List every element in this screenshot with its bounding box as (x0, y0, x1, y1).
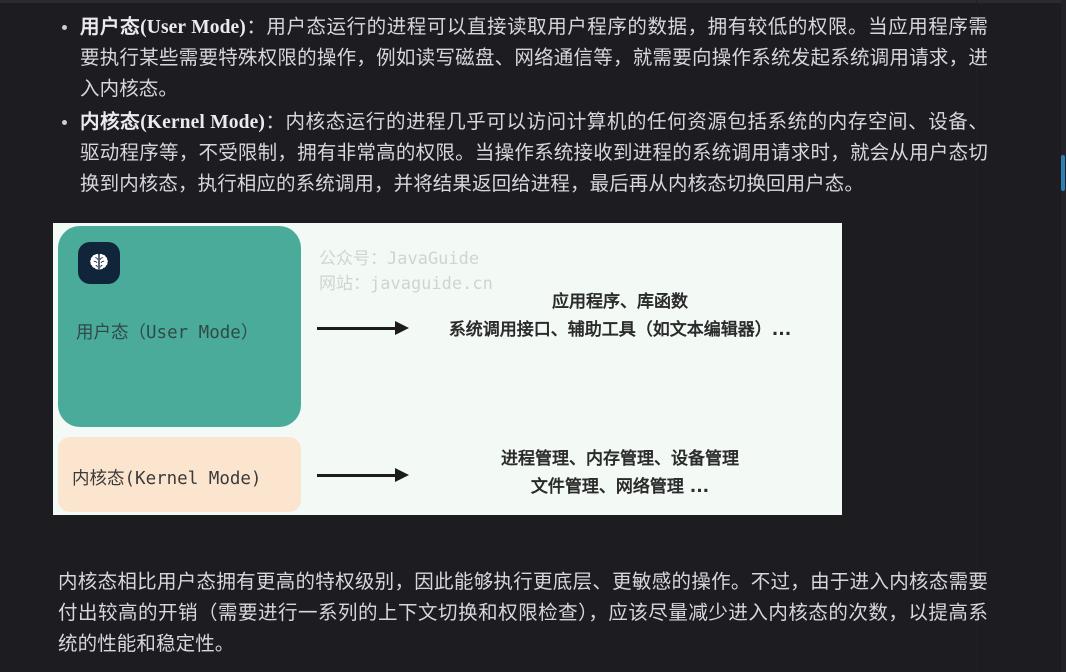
user-mode-label: 用户态（User Mode） (76, 319, 258, 344)
bullet-term-user-mode: 用户态(User Mode) (80, 17, 246, 38)
kernel-mode-components: 进程管理、内存管理、设备管理 文件管理、网络管理 ... (405, 445, 835, 501)
scrollbar-thumb[interactable] (1061, 155, 1065, 191)
kernel-mode-components-line-2: 文件管理、网络管理 ... (405, 473, 835, 501)
bullet-term-kernel-mode: 内核态(Kernel Mode) (80, 112, 265, 133)
user-mode-components-line-1: 应用程序、库函数 (405, 288, 835, 316)
watermark-line-1: 公众号：JavaGuide (319, 247, 493, 272)
scrollbar[interactable] (1061, 0, 1066, 672)
arrow-shaft (317, 474, 395, 477)
kernel-mode-label: 内核态(Kernel Mode) (72, 465, 261, 490)
mode-bullet-list: 用户态(User Mode)：用户态运行的进程可以直接读取用户程序的数据，拥有较… (58, 12, 988, 200)
user-kernel-mode-diagram: 用户态（User Mode） 内核态(Kernel Mode) 公众号：Java… (53, 223, 842, 515)
arrow-right-icon (317, 321, 409, 335)
bullet-separator: ： (246, 17, 267, 38)
kernel-mode-components-line-1: 进程管理、内存管理、设备管理 (405, 445, 835, 473)
user-mode-components-line-2: 系统调用接口、辅助工具（如文本编辑器）... (405, 316, 835, 344)
list-item: 内核态(Kernel Mode)：内核态运行的进程几乎可以访问计算机的任何资源包… (58, 107, 988, 200)
arrow-shaft (317, 327, 395, 330)
article-page: 用户态(User Mode)：用户态运行的进程可以直接读取用户程序的数据，拥有较… (0, 0, 1066, 672)
user-mode-components: 应用程序、库函数 系统调用接口、辅助工具（如文本编辑器）... (405, 288, 835, 344)
top-hairline (0, 0, 1066, 3)
kernel-mode-box: 内核态(Kernel Mode) (58, 437, 301, 512)
closing-paragraph: 内核态相比用户态拥有更高的特权级别，因此能够执行更底层、更敏感的操作。不过，由于… (58, 567, 988, 660)
arrow-right-icon (317, 468, 409, 482)
bullet-separator: ： (265, 112, 286, 133)
list-item: 用户态(User Mode)：用户态运行的进程可以直接读取用户程序的数据，拥有较… (58, 12, 988, 105)
user-mode-box: 用户态（User Mode） (58, 226, 301, 427)
brain-icon (78, 242, 120, 284)
